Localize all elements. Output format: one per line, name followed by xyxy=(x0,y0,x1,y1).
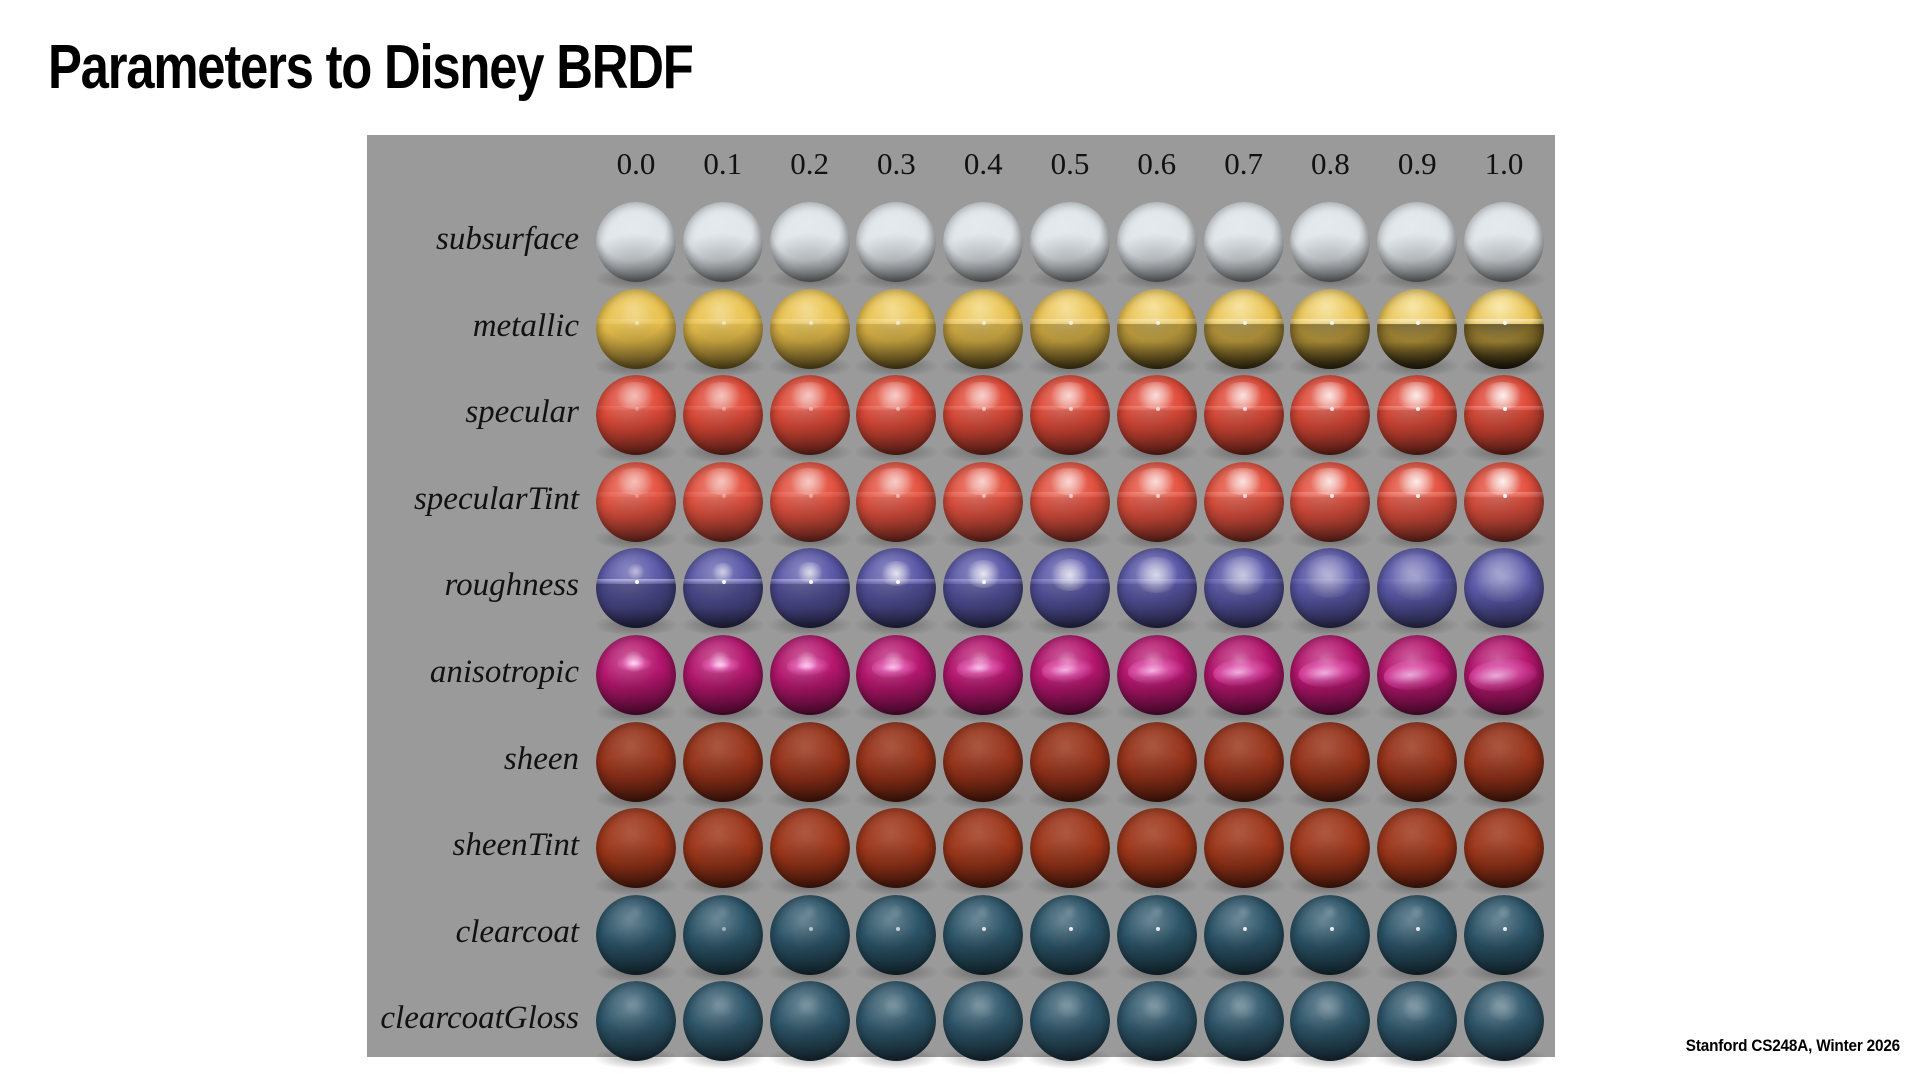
sphere-anisotropic-0-3 xyxy=(856,635,936,715)
slide-footer: Stanford CS248A, Winter 2026 xyxy=(1686,1036,1900,1056)
sphere-metallic-0-9 xyxy=(1377,289,1457,369)
sphere-specularTint-0-6 xyxy=(1117,462,1197,542)
sphere-subsurface-0-8 xyxy=(1290,202,1370,282)
sphere-subsurface-0-2 xyxy=(770,202,850,282)
sphere-sheenTint-0-8 xyxy=(1290,808,1370,888)
sphere-clearcoat-0-2 xyxy=(770,895,850,975)
sphere-clearcoatGloss-0-4 xyxy=(943,981,1023,1061)
column-header-0-3: 0.3 xyxy=(853,145,939,183)
sphere-metallic-0-8 xyxy=(1290,289,1370,369)
sphere-roughness-0-8 xyxy=(1290,548,1370,628)
sphere-sheenTint-0-6 xyxy=(1117,808,1197,888)
sphere-specular-0-7 xyxy=(1204,375,1284,455)
sphere-metallic-0-0 xyxy=(596,289,676,369)
sphere-roughness-0-5 xyxy=(1030,548,1110,628)
sphere-metallic-0-5 xyxy=(1030,289,1110,369)
sphere-sheen-0-8 xyxy=(1290,722,1370,802)
sphere-specular-0-1 xyxy=(683,375,763,455)
sphere-clearcoatGloss-0-5 xyxy=(1030,981,1110,1061)
sphere-anisotropic-0-8 xyxy=(1290,635,1370,715)
sphere-clearcoatGloss-0-2 xyxy=(770,981,850,1061)
sphere-sheenTint-0-7 xyxy=(1204,808,1284,888)
sphere-anisotropic-0-9 xyxy=(1377,635,1457,715)
sphere-specularTint-0-4 xyxy=(943,462,1023,542)
sphere-metallic-0-7 xyxy=(1204,289,1284,369)
sphere-subsurface-0-7 xyxy=(1204,202,1284,282)
column-header-0-4: 0.4 xyxy=(940,145,1026,183)
column-header-0-1: 0.1 xyxy=(680,145,766,183)
sphere-subsurface-0-9 xyxy=(1377,202,1457,282)
sphere-clearcoatGloss-0-1 xyxy=(683,981,763,1061)
sphere-sheen-1-0 xyxy=(1464,722,1544,802)
column-header-0-9: 0.9 xyxy=(1374,145,1460,183)
row-label-sheentint: sheenTint xyxy=(357,826,579,864)
row-label-clearcoat: clearcoat xyxy=(357,913,579,951)
sphere-specularTint-0-3 xyxy=(856,462,936,542)
sphere-sheenTint-1-0 xyxy=(1464,808,1544,888)
sphere-specular-0-9 xyxy=(1377,375,1457,455)
sphere-anisotropic-1-0 xyxy=(1464,635,1544,715)
sphere-specularTint-0-1 xyxy=(683,462,763,542)
sphere-specular-0-8 xyxy=(1290,375,1370,455)
sphere-clearcoatGloss-0-0 xyxy=(596,981,676,1061)
sphere-specular-0-3 xyxy=(856,375,936,455)
column-header-0-2: 0.2 xyxy=(767,145,853,183)
sphere-subsurface-0-4 xyxy=(943,202,1023,282)
sphere-clearcoat-1-0 xyxy=(1464,895,1544,975)
row-label-metallic: metallic xyxy=(357,307,579,345)
sphere-anisotropic-0-0 xyxy=(596,635,676,715)
sphere-sheen-0-5 xyxy=(1030,722,1110,802)
sphere-roughness-0-2 xyxy=(770,548,850,628)
sphere-sheen-0-0 xyxy=(596,722,676,802)
sphere-clearcoat-0-1 xyxy=(683,895,763,975)
sphere-clearcoatGloss-0-8 xyxy=(1290,981,1370,1061)
page-title: Parameters to Disney BRDF xyxy=(48,32,693,104)
sphere-clearcoatGloss-0-6 xyxy=(1117,981,1197,1061)
sphere-subsurface-0-0 xyxy=(596,202,676,282)
sphere-sheen-0-3 xyxy=(856,722,936,802)
sphere-sheenTint-0-1 xyxy=(683,808,763,888)
sphere-anisotropic-0-5 xyxy=(1030,635,1110,715)
sphere-specularTint-0-2 xyxy=(770,462,850,542)
sphere-specularTint-0-5 xyxy=(1030,462,1110,542)
sphere-sheen-0-2 xyxy=(770,722,850,802)
sphere-clearcoatGloss-0-7 xyxy=(1204,981,1284,1061)
column-header-0-8: 0.8 xyxy=(1287,145,1373,183)
sphere-sheen-0-4 xyxy=(943,722,1023,802)
sphere-sheenTint-0-5 xyxy=(1030,808,1110,888)
row-label-specular: specular xyxy=(357,393,579,431)
sphere-sheen-0-7 xyxy=(1204,722,1284,802)
sphere-clearcoat-0-3 xyxy=(856,895,936,975)
sphere-specularTint-1-0 xyxy=(1464,462,1544,542)
row-label-anisotropic: anisotropic xyxy=(357,653,579,691)
column-header-0-5: 0.5 xyxy=(1027,145,1113,183)
row-label-subsurface: subsurface xyxy=(357,220,579,258)
sphere-specularTint-0-9 xyxy=(1377,462,1457,542)
sphere-sheen-0-6 xyxy=(1117,722,1197,802)
sphere-metallic-0-1 xyxy=(683,289,763,369)
sphere-specular-0-6 xyxy=(1117,375,1197,455)
sphere-subsurface-1-0 xyxy=(1464,202,1544,282)
sphere-subsurface-0-6 xyxy=(1117,202,1197,282)
sphere-clearcoat-0-0 xyxy=(596,895,676,975)
sphere-roughness-0-0 xyxy=(596,548,676,628)
sphere-subsurface-0-1 xyxy=(683,202,763,282)
column-header-0-0: 0.0 xyxy=(593,145,679,183)
sphere-roughness-1-0 xyxy=(1464,548,1544,628)
sphere-clearcoat-0-5 xyxy=(1030,895,1110,975)
sphere-subsurface-0-3 xyxy=(856,202,936,282)
sphere-clearcoatGloss-0-9 xyxy=(1377,981,1457,1061)
sphere-clearcoat-0-6 xyxy=(1117,895,1197,975)
sphere-sheen-0-1 xyxy=(683,722,763,802)
sphere-anisotropic-0-7 xyxy=(1204,635,1284,715)
sphere-sheen-0-9 xyxy=(1377,722,1457,802)
sphere-subsurface-0-5 xyxy=(1030,202,1110,282)
row-label-sheen: sheen xyxy=(357,740,579,778)
sphere-specular-1-0 xyxy=(1464,375,1544,455)
sphere-clearcoatGloss-1-0 xyxy=(1464,981,1544,1061)
column-header-1-0: 1.0 xyxy=(1461,145,1547,183)
sphere-specularTint-0-7 xyxy=(1204,462,1284,542)
sphere-roughness-0-3 xyxy=(856,548,936,628)
sphere-specularTint-0-8 xyxy=(1290,462,1370,542)
sphere-anisotropic-0-6 xyxy=(1117,635,1197,715)
sphere-specular-0-5 xyxy=(1030,375,1110,455)
sphere-clearcoat-0-4 xyxy=(943,895,1023,975)
sphere-sheenTint-0-4 xyxy=(943,808,1023,888)
sphere-sheenTint-0-3 xyxy=(856,808,936,888)
sphere-roughness-0-6 xyxy=(1117,548,1197,628)
sphere-metallic-0-4 xyxy=(943,289,1023,369)
sphere-anisotropic-0-2 xyxy=(770,635,850,715)
sphere-metallic-0-6 xyxy=(1117,289,1197,369)
sphere-anisotropic-0-4 xyxy=(943,635,1023,715)
sphere-specular-0-4 xyxy=(943,375,1023,455)
sphere-roughness-0-7 xyxy=(1204,548,1284,628)
row-label-clearcoatgloss: clearcoatGloss xyxy=(357,999,579,1037)
sphere-sheenTint-0-2 xyxy=(770,808,850,888)
sphere-metallic-0-3 xyxy=(856,289,936,369)
sphere-roughness-0-1 xyxy=(683,548,763,628)
column-header-0-7: 0.7 xyxy=(1201,145,1287,183)
sphere-specularTint-0-0 xyxy=(596,462,676,542)
sphere-sheenTint-0-9 xyxy=(1377,808,1457,888)
sphere-specular-0-2 xyxy=(770,375,850,455)
sphere-sheenTint-0-0 xyxy=(596,808,676,888)
sphere-roughness-0-9 xyxy=(1377,548,1457,628)
sphere-clearcoat-0-7 xyxy=(1204,895,1284,975)
sphere-metallic-0-2 xyxy=(770,289,850,369)
column-header-0-6: 0.6 xyxy=(1114,145,1200,183)
brdf-parameter-grid: 0.00.10.20.30.40.50.60.70.80.91.0 subsur… xyxy=(367,135,1555,1057)
sphere-clearcoatGloss-0-3 xyxy=(856,981,936,1061)
row-label-speculartint: specularTint xyxy=(357,480,579,518)
sphere-clearcoat-0-8 xyxy=(1290,895,1370,975)
sphere-clearcoat-0-9 xyxy=(1377,895,1457,975)
sphere-anisotropic-0-1 xyxy=(683,635,763,715)
sphere-metallic-1-0 xyxy=(1464,289,1544,369)
sphere-roughness-0-4 xyxy=(943,548,1023,628)
row-label-roughness: roughness xyxy=(357,566,579,604)
sphere-specular-0-0 xyxy=(596,375,676,455)
